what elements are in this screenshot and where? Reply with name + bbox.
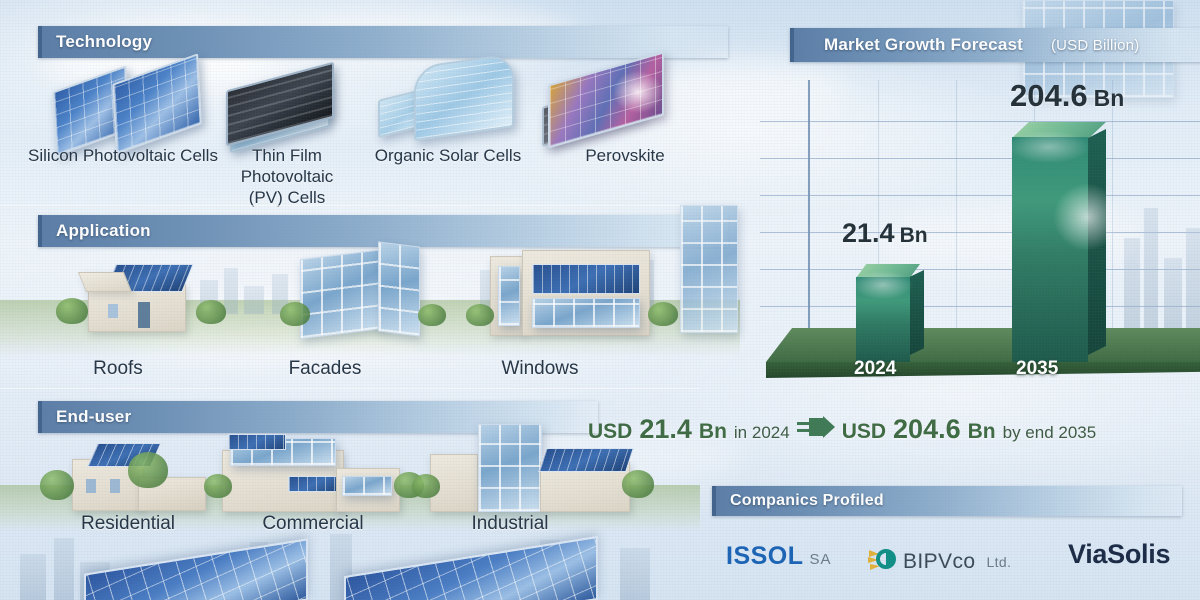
chart-bar-2035 <box>1012 122 1122 362</box>
chart-xlabel-2035: 2035 <box>1016 358 1058 380</box>
application-label-2: Windows <box>450 358 630 379</box>
chart-bar-2024 <box>856 264 934 362</box>
chart-value-label-2024: 21.4Bn <box>842 218 928 249</box>
summary-end-unit: Bn <box>968 420 996 444</box>
chart-gridline <box>760 158 1200 159</box>
market-growth-chart: Market Growth Forecast (USD Billion) 21.… <box>760 18 1200 388</box>
bipvco-logo-name: BIPVco <box>903 550 975 574</box>
application-label-0: Roofs <box>48 358 188 379</box>
chart-title-unit: (USD Billion) <box>1033 37 1139 54</box>
chart-gridline <box>760 121 1200 122</box>
summary-connector-start: in 2024 <box>734 423 790 443</box>
chart-title-banner: Market Growth Forecast (USD Billion) <box>790 28 1200 62</box>
issol-logo-name: ISSOL <box>726 542 804 570</box>
infographic-canvas: Technology Silicon Photovoltaic Cells Th… <box>0 0 1200 600</box>
summary-currency-end: USD <box>842 420 886 444</box>
section-banner-companies: Companics Profiled <box>712 486 1182 516</box>
chart-value-2035: 204.6 <box>1010 78 1088 113</box>
summary-currency-start: USD <box>588 420 632 444</box>
growth-summary: USD 21.4 Bn in 2024 USD 204.6 Bn by end … <box>588 414 1096 445</box>
chart-value-unit-2035: Bn <box>1094 85 1125 111</box>
technology-label-2: Organic Solar Cells <box>363 145 533 166</box>
bipvco-logo-suffix: Ltd. <box>986 554 1011 570</box>
iridescent-perovskite-panel-icon <box>540 58 670 142</box>
chart-vgridline <box>956 80 957 342</box>
chart-xlabel-2024: 2024 <box>854 358 896 380</box>
right-arrow-icon <box>797 416 835 438</box>
curved-glass-panel-icon <box>378 54 518 142</box>
section-title-enduser: End-user <box>38 407 131 427</box>
blue-solar-panel-icon <box>52 62 202 142</box>
technology-label-0: Silicon Photovoltaic Cells <box>28 145 218 166</box>
solar-window-building-icon <box>490 250 655 334</box>
section-title-application: Application <box>38 221 151 241</box>
section-divider-1 <box>0 205 740 206</box>
issol-logo[interactable]: ISSOLSA <box>726 542 832 571</box>
summary-start-value: 21.4 <box>639 414 692 445</box>
section-divider-2 <box>0 388 700 389</box>
house-with-solar-roof-icon <box>76 258 206 330</box>
bipvco-leaf-icon <box>866 546 896 578</box>
chart-value-unit-2024: Bn <box>900 224 928 247</box>
chart-skyline <box>1120 168 1200 328</box>
glass-facade-building-icon <box>300 240 420 332</box>
dark-thin-film-panel-icon <box>222 62 342 142</box>
section-title-technology: Technology <box>38 32 152 52</box>
chart-platform-top <box>766 328 1200 362</box>
chart-value-2024: 21.4 <box>842 218 895 248</box>
summary-end-value: 204.6 <box>893 414 961 445</box>
chart-platform-front <box>766 362 1200 378</box>
viasolis-logo-name: ViaSolis <box>1068 539 1170 569</box>
chart-value-label-2035: 204.6Bn <box>1010 78 1124 114</box>
issol-logo-suffix: SA <box>810 551 832 568</box>
viasolis-logo[interactable]: ViaSolis <box>1068 539 1170 570</box>
bipvco-logo[interactable]: BIPVco Ltd. <box>866 546 1011 578</box>
chart-title: Market Growth Forecast <box>806 35 1023 54</box>
technology-label-3: Perovskite <box>555 145 695 166</box>
summary-start-unit: Bn <box>699 420 727 444</box>
summary-connector-end: by end 2035 <box>1003 423 1097 443</box>
commercial-building-icon <box>222 432 402 510</box>
technology-label-1: Thin Film Photovoltaic (PV) Cells <box>222 145 352 208</box>
application-label-1: Facades <box>245 358 405 379</box>
section-title-companies: Companics Profiled <box>712 492 884 510</box>
background-tower <box>680 205 738 333</box>
